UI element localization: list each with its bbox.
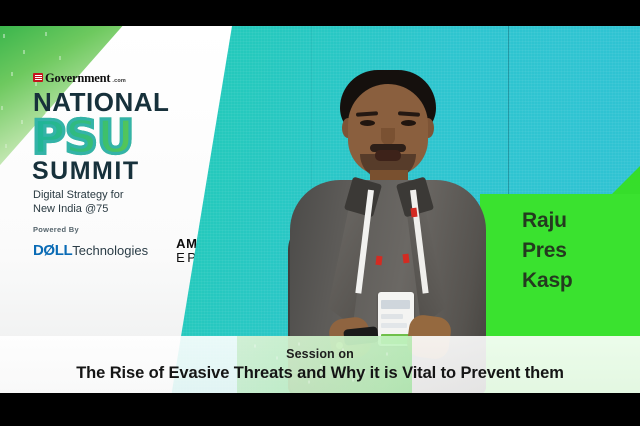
speaker-nose [381,128,395,145]
event-branding: Government .com NATIONAL PSU SUMMIT Digi… [33,72,199,264]
video-player-frame: Raju Pres Kasp Government .com NATIONAL … [0,0,640,426]
speaker-name-line-3: Kasp [522,266,640,296]
letterbox-bar-bottom [0,393,640,426]
speaker-name-line-1: Raju [522,206,640,236]
sponsor-logo-dell: DØLLTechnologies [33,242,148,259]
badge-line [381,300,410,309]
dell-wordmark: DØLL [33,242,72,259]
video-content-area: Raju Pres Kasp Government .com NATIONAL … [0,26,640,393]
speaker-name-line-2: Pres [522,236,640,266]
event-tagline-line-2: New India @75 [33,203,199,217]
et-flag-icon [33,73,43,82]
sponsor-logos: DØLLTechnologies AMD⌐ EPYC [33,237,199,264]
lanyard-logo-mark [375,256,382,266]
speaker-mouth [375,150,401,161]
speaker-name-overlay: Raju Pres Kasp [522,206,640,295]
powered-by-label: Powered By [33,225,199,234]
speaker-eye-left [360,120,375,126]
event-tagline-line-1: Digital Strategy for [33,189,199,203]
event-acronym: PSU [32,116,199,158]
session-caption-bar: Session on The Rise of Evasive Threats a… [0,336,640,393]
lanyard-logo-mark [402,254,409,264]
event-tagline: Digital Strategy for New India @75 [33,189,199,217]
dell-technologies-word: Technologies [72,243,148,258]
letterbox-bar-top [0,0,640,26]
publisher-domain-suffix: .com [112,78,126,84]
badge-line [381,323,407,328]
lanyard-logo-mark [410,208,417,218]
caption-eyebrow: Session on [286,347,354,361]
publisher-logo: Government .com [33,72,199,85]
speaker-eye-right [401,120,416,126]
badge-line [381,314,403,319]
caption-title: The Rise of Evasive Threats and Why it i… [76,364,564,383]
publisher-name: Government [45,72,110,85]
